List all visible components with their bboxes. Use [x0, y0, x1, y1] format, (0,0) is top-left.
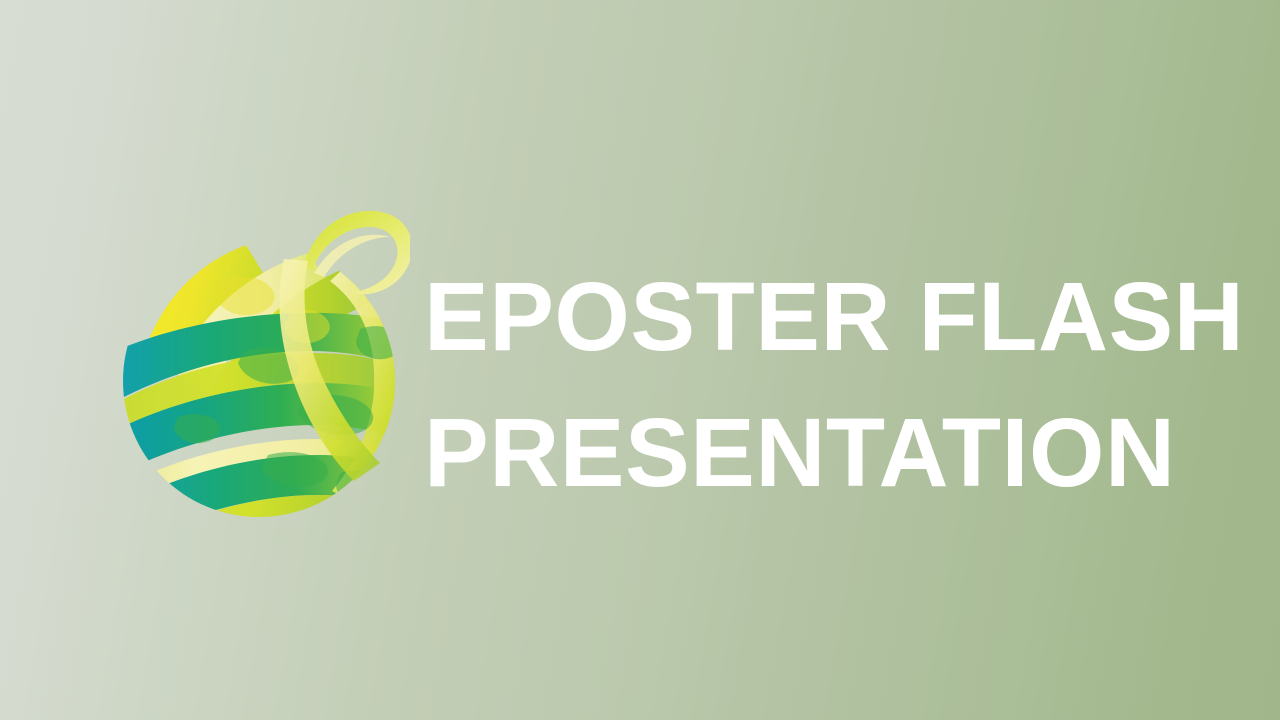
globe-bands	[118, 245, 410, 518]
title-line-2: PRESENTATION	[424, 385, 1224, 521]
title-slide: EPOSTER FLASH PRESENTATION	[0, 0, 1280, 720]
globe-ribbon-leaf-logo	[118, 203, 410, 518]
title-line-1: EPOSTER FLASH	[424, 249, 1224, 385]
slide-title: EPOSTER FLASH PRESENTATION	[424, 249, 1224, 521]
